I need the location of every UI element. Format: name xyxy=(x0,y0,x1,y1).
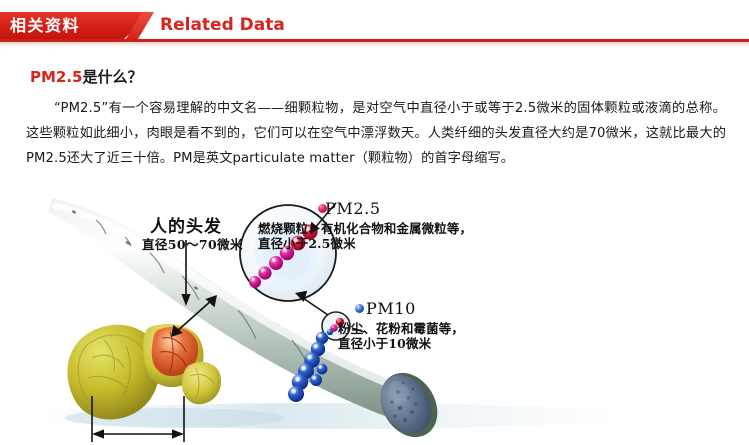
pm25-label-heading: PM2.5 xyxy=(325,199,381,218)
pm25-label-line2: 直径小于2.5微米 xyxy=(258,236,472,251)
pm25-label-line1: 燃烧颗粒、有机化合物和金属微粒等， xyxy=(258,221,472,236)
section-title-rest: 是什么？ xyxy=(83,68,143,86)
header-title-cn: 相关资料 xyxy=(10,13,125,38)
header-divider-glow xyxy=(0,42,749,47)
hair-label-subtitle: 直径50～70微米 xyxy=(142,234,243,253)
page-root: 相关资料 Related Data PM2.5是什么？ “PM2.5”有一个容易… xyxy=(0,0,749,445)
section-title: PM2.5是什么？ xyxy=(30,66,143,87)
pm10-label-body: 粉尘、花粉和霉菌等， 直径小于10微米 xyxy=(338,321,464,351)
header-title-en: Related Data xyxy=(160,12,285,39)
pm10-bullet-icon xyxy=(355,304,364,313)
pm25-label-body: 燃烧颗粒、有机化合物和金属微粒等， 直径小于2.5微米 xyxy=(258,221,472,251)
pm10-label-line1: 粉尘、花粉和霉菌等， xyxy=(338,321,464,336)
pm10-label-heading: PM10 xyxy=(366,299,416,318)
article-paragraph: “PM2.5”有一个容易理解的中文名——细颗粒物，是对空气中直径小于或等于2.5… xyxy=(26,96,726,171)
pm10-label-line2: 直径小于10微米 xyxy=(338,336,464,351)
section-title-highlight: PM2.5 xyxy=(30,68,83,86)
page-header: 相关资料 Related Data xyxy=(0,0,749,48)
